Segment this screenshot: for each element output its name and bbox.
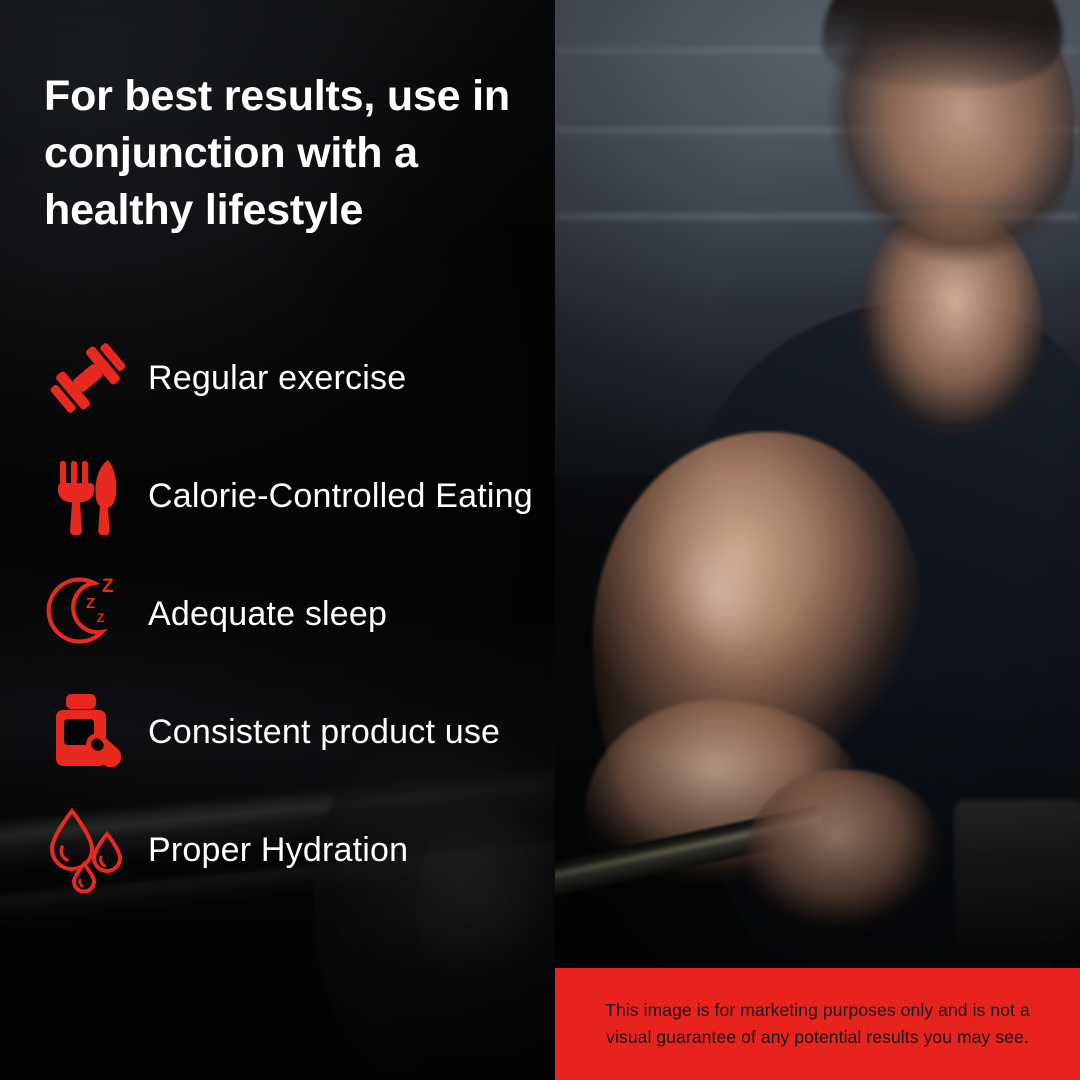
svg-text:Z: Z — [102, 576, 114, 597]
benefit-item-calorie-controlled-eating: Calorie-Controlled Eating — [40, 448, 540, 544]
benefit-label: Consistent product use — [136, 708, 540, 756]
dumbbell-icon — [40, 335, 136, 421]
left-content-panel: For best results, use in conjunction wit… — [0, 0, 555, 1080]
hero-photo: This image is for marketing purposes onl… — [555, 0, 1080, 1080]
benefits-list: Regular exercise — [40, 330, 540, 898]
pill-bottle-icon — [40, 689, 136, 775]
benefit-label: Proper Hydration — [136, 826, 540, 874]
promo-graphic: For best results, use in conjunction wit… — [0, 0, 1080, 1080]
benefit-item-consistent-product-use: Consistent product use — [40, 684, 540, 780]
benefit-label: Regular exercise — [136, 354, 540, 402]
svg-text:Z: Z — [97, 611, 104, 625]
benefit-item-adequate-sleep: Z Z Z Adequate sleep — [40, 566, 540, 662]
photo-color-grade — [555, 0, 1080, 1080]
benefit-item-regular-exercise: Regular exercise — [40, 330, 540, 426]
svg-text:Z: Z — [86, 595, 95, 612]
benefit-item-proper-hydration: Proper Hydration — [40, 802, 540, 898]
moon-sleep-icon: Z Z Z — [40, 571, 136, 657]
disclaimer-banner: This image is for marketing purposes onl… — [555, 968, 1080, 1080]
benefit-label: Calorie-Controlled Eating — [136, 472, 540, 520]
fork-knife-icon — [40, 453, 136, 539]
headline: For best results, use in conjunction wit… — [44, 68, 514, 240]
benefit-label: Adequate sleep — [136, 590, 540, 638]
water-drops-icon — [40, 807, 136, 893]
disclaimer-text: This image is for marketing purposes onl… — [581, 997, 1054, 1050]
